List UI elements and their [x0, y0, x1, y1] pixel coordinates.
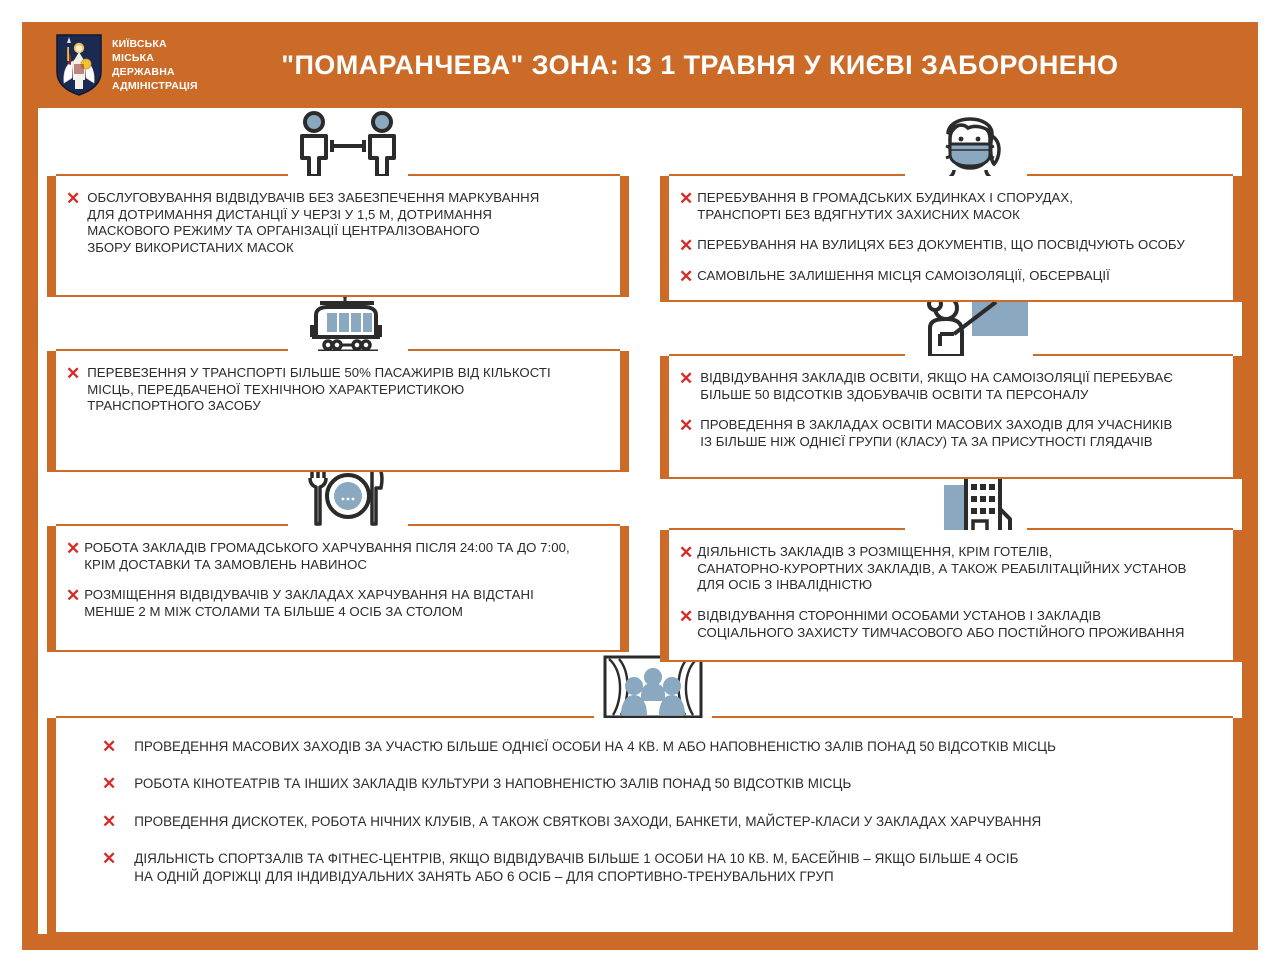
card-rule-right [1033, 354, 1233, 356]
list-item: ✕ ПЕРЕВЕЗЕННЯ У ТРАНСПОРТІ БІЛЬШЕ 50% ПА… [66, 365, 606, 415]
x-mark-icon: ✕ [102, 739, 116, 754]
prohibition-list: ✕ ПЕРЕБУВАННЯ В ГРОМАДСЬКИХ БУДИНКАХ І С… [669, 176, 1233, 309]
card-rule-left [56, 716, 594, 718]
card-rule-left [56, 524, 288, 526]
list-item: ✕ ПЕРЕБУВАННЯ В ГРОМАДСЬКИХ БУДИНКАХ І С… [679, 190, 1219, 223]
list-item-text: САМОВІЛЬНЕ ЗАЛИШЕННЯ МІСЦЯ САМОІЗОЛЯЦІЇ,… [697, 268, 1110, 285]
page-frame-bottom [22, 934, 1258, 950]
card-rule-right [408, 524, 620, 526]
x-mark-icon: ✕ [66, 366, 80, 381]
list-item: ✕ ДІЯЛЬНІСТЬ ЗАКЛАДІВ З РОЗМІЩЕННЯ, КРІМ… [679, 544, 1219, 594]
card-rule-left [669, 174, 905, 176]
card-social-distance: ✕ ОБСЛУГОВУВАННЯ ВІДВІДУВАЧІВ БЕЗ ЗАБЕЗП… [47, 176, 629, 297]
list-item: ✕ РОБОТА КІНОТЕАТРІВ ТА ІНШИХ ЗАКЛАДІВ К… [102, 775, 1215, 792]
prohibition-list: ✕ ПЕРЕВЕЗЕННЯ У ТРАНСПОРТІ БІЛЬШЕ 50% ПА… [56, 351, 620, 425]
list-item: ✕ САМОВІЛЬНЕ ЗАЛИШЕННЯ МІСЦЯ САМОІЗОЛЯЦІ… [679, 268, 1219, 285]
card-transport-capacity: ✕ ПЕРЕВЕЗЕННЯ У ТРАНСПОРТІ БІЛЬШЕ 50% ПА… [47, 351, 629, 472]
card-rule-left [669, 528, 905, 530]
card-masks-documents: ✕ ПЕРЕБУВАННЯ В ГРОМАДСЬКИХ БУДИНКАХ І С… [660, 176, 1242, 302]
page-header: КИЇВСЬКА МІСЬКА ДЕРЖАВНА АДМІНІСТРАЦІЯ "… [38, 22, 1242, 108]
social-distance-icon [288, 110, 408, 180]
x-mark-icon: ✕ [679, 545, 693, 560]
list-item-text: ВІДВІДУВАННЯ ЗАКЛАДІВ ОСВІТИ, ЯКЩО НА СА… [700, 370, 1173, 403]
x-mark-icon: ✕ [66, 191, 80, 206]
list-item: ✕ ПЕРЕБУВАННЯ НА ВУЛИЦЯХ БЕЗ ДОКУМЕНТІВ,… [679, 237, 1219, 254]
card-rule-right [712, 716, 1233, 718]
x-mark-icon: ✕ [679, 418, 693, 433]
page-frame-right [1242, 22, 1258, 950]
list-item: ✕ ПРОВЕДЕННЯ МАСОВИХ ЗАХОДІВ ЗА УЧАСТЮ Б… [102, 738, 1215, 755]
kyiv-coat-of-arms-icon [56, 34, 102, 96]
list-item: ✕ ДІЯЛЬНІСТЬ СПОРТЗАЛІВ ТА ФІТНЕС-ЦЕНТРІ… [102, 850, 1215, 885]
x-mark-icon: ✕ [679, 191, 693, 206]
x-mark-icon: ✕ [679, 371, 693, 386]
prohibition-list: ✕ ВІДВІДУВАННЯ ЗАКЛАДІВ ОСВІТИ, ЯКЩО НА … [669, 356, 1233, 475]
card-rule-left [669, 354, 905, 356]
list-item-text: ПЕРЕБУВАННЯ В ГРОМАДСЬКИХ БУДИНКАХ І СПО… [697, 190, 1073, 223]
list-item-text: ДІЯЛЬНІСТЬ ЗАКЛАДІВ З РОЗМІЩЕННЯ, КРІМ Г… [697, 544, 1186, 594]
card-accommodation: ✕ ДІЯЛЬНІСТЬ ЗАКЛАДІВ З РОЗМІЩЕННЯ, КРІМ… [660, 530, 1242, 662]
card-rule-right [1027, 528, 1233, 530]
list-item: ✕ РОБОТА ЗАКЛАДІВ ГРОМАДСЬКОГО ХАРЧУВАНН… [66, 540, 606, 573]
list-item-text: ПРОВЕДЕННЯ В ЗАКЛАДАХ ОСВІТИ МАСОВИХ ЗАХ… [700, 417, 1172, 450]
card-mass-events: ✕ ПРОВЕДЕННЯ МАСОВИХ ЗАХОДІВ ЗА УЧАСТЮ Б… [47, 718, 1242, 934]
card-rule-right [1027, 174, 1233, 176]
list-item-text: ПРОВЕДЕННЯ МАСОВИХ ЗАХОДІВ ЗА УЧАСТЮ БІЛ… [134, 738, 1056, 755]
list-item-text: РОБОТА КІНОТЕАТРІВ ТА ІНШИХ ЗАКЛАДІВ КУЛ… [134, 775, 851, 792]
list-item-text: ОБСЛУГОВУВАННЯ ВІДВІДУВАЧІВ БЕЗ ЗАБЕЗПЕЧ… [87, 190, 539, 257]
page-frame-left [22, 22, 38, 950]
x-mark-icon: ✕ [66, 588, 80, 603]
card-education: ✕ ВІДВІДУВАННЯ ЗАКЛАДІВ ОСВІТИ, ЯКЩО НА … [660, 356, 1242, 479]
x-mark-icon: ✕ [679, 269, 693, 284]
infographic-page: КИЇВСЬКА МІСЬКА ДЕРЖАВНА АДМІНІСТРАЦІЯ "… [0, 0, 1280, 972]
logo-text: КИЇВСЬКА МІСЬКА ДЕРЖАВНА АДМІНІСТРАЦІЯ [112, 37, 198, 93]
list-item-text: РОБОТА ЗАКЛАДІВ ГРОМАДСЬКОГО ХАРЧУВАННЯ … [84, 540, 569, 573]
card-rule-right [408, 349, 620, 351]
list-item: ✕ РОЗМІЩЕННЯ ВІДВІДУВАЧІВ У ЗАКЛАДАХ ХАР… [66, 587, 606, 620]
x-mark-icon: ✕ [679, 238, 693, 253]
card-catering: ✕ РОБОТА ЗАКЛАДІВ ГРОМАДСЬКОГО ХАРЧУВАНН… [47, 526, 629, 652]
face-mask-icon [910, 108, 1030, 180]
list-item-text: ВІДВІДУВАННЯ СТОРОННІМИ ОСОБАМИ УСТАНОВ … [697, 608, 1184, 641]
prohibition-list: ✕ РОБОТА ЗАКЛАДІВ ГРОМАДСЬКОГО ХАРЧУВАНН… [56, 526, 620, 645]
list-item: ✕ ПРОВЕДЕННЯ В ЗАКЛАДАХ ОСВІТИ МАСОВИХ З… [679, 417, 1219, 450]
prohibition-list: ✕ ПРОВЕДЕННЯ МАСОВИХ ЗАХОДІВ ЗА УЧАСТЮ Б… [56, 718, 1233, 915]
card-rule-left [56, 349, 288, 351]
list-item-text: РОЗМІЩЕННЯ ВІДВІДУВАЧІВ У ЗАКЛАДАХ ХАРЧУ… [84, 587, 534, 620]
logo-block: КИЇВСЬКА МІСЬКА ДЕРЖАВНА АДМІНІСТРАЦІЯ [56, 34, 198, 96]
page-title: "ПОМАРАНЧЕВА" ЗОНА: ІЗ 1 ТРАВНЯ У КИЄВІ … [198, 50, 1242, 81]
x-mark-icon: ✕ [66, 541, 80, 556]
x-mark-icon: ✕ [679, 609, 693, 624]
list-item-text: ПЕРЕВЕЗЕННЯ У ТРАНСПОРТІ БІЛЬШЕ 50% ПАСА… [87, 365, 550, 415]
list-item: ✕ ВІДВІДУВАННЯ СТОРОННІМИ ОСОБАМИ УСТАНО… [679, 608, 1219, 641]
list-item: ✕ ПРОВЕДЕННЯ ДИСКОТЕК, РОБОТА НІЧНИХ КЛУ… [102, 813, 1215, 830]
x-mark-icon: ✕ [102, 814, 116, 829]
card-rule-left [56, 174, 288, 176]
list-item: ✕ ВІДВІДУВАННЯ ЗАКЛАДІВ ОСВІТИ, ЯКЩО НА … [679, 370, 1219, 403]
cards-board: ✕ ОБСЛУГОВУВАННЯ ВІДВІДУВАЧІВ БЕЗ ЗАБЕЗП… [38, 108, 1242, 934]
list-item: ✕ ОБСЛУГОВУВАННЯ ВІДВІДУВАЧІВ БЕЗ ЗАБЕЗП… [66, 190, 606, 257]
list-item-text: ДІЯЛЬНІСТЬ СПОРТЗАЛІВ ТА ФІТНЕС-ЦЕНТРІВ,… [134, 850, 1018, 885]
prohibition-list: ✕ ДІЯЛЬНІСТЬ ЗАКЛАДІВ З РОЗМІЩЕННЯ, КРІМ… [669, 530, 1233, 665]
card-rule-right [408, 174, 620, 176]
x-mark-icon: ✕ [102, 776, 116, 791]
x-mark-icon: ✕ [102, 851, 116, 866]
prohibition-list: ✕ ОБСЛУГОВУВАННЯ ВІДВІДУВАЧІВ БЕЗ ЗАБЕЗП… [56, 176, 620, 267]
list-item-text: ПЕРЕБУВАННЯ НА ВУЛИЦЯХ БЕЗ ДОКУМЕНТІВ, Щ… [697, 237, 1185, 254]
list-item-text: ПРОВЕДЕННЯ ДИСКОТЕК, РОБОТА НІЧНИХ КЛУБІ… [134, 813, 1041, 830]
